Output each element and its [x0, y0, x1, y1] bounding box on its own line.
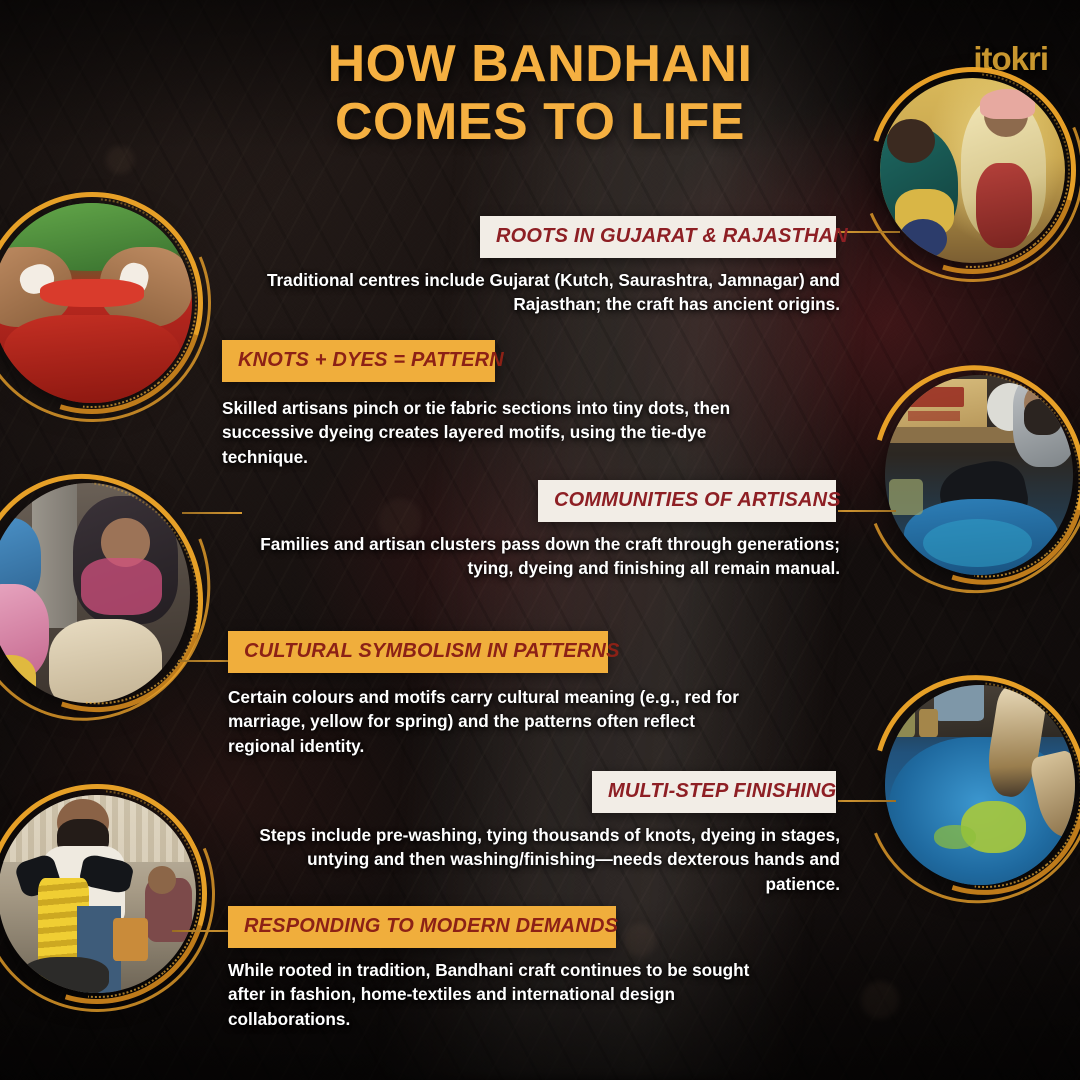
section-heading-multi-step-finishing[interactable]: MULTI-STEP FINISHING	[592, 771, 836, 813]
photo-blue-dye-vat-closeup	[885, 685, 1075, 885]
photo-image	[0, 795, 196, 993]
photo-disc	[880, 78, 1065, 263]
photo-image	[880, 78, 1065, 263]
photo-man-lifting-yellow-fabric	[0, 795, 196, 993]
photo-disc	[0, 795, 196, 993]
photo-image	[885, 685, 1075, 885]
connector-line-2	[182, 512, 242, 514]
section-body-responding-to-modern-demands: While rooted in tradition, Bandhani craf…	[228, 958, 773, 1031]
connector-line-3	[838, 510, 896, 512]
photo-image	[885, 375, 1073, 575]
itokri-logo[interactable]: itokri	[973, 40, 1048, 78]
connector-line-6	[172, 930, 232, 932]
section-body-multi-step-finishing: Steps include pre-washing, tying thousan…	[250, 823, 840, 896]
section-body-communities-of-artisans: Families and artisan clusters pass down …	[250, 532, 840, 581]
photo-disc	[0, 483, 190, 703]
section-heading-knots-dyes-pattern[interactable]: KNOTS + DYES = PATTERN	[222, 340, 495, 382]
section-heading-responding-to-modern-demands[interactable]: RESPONDING TO MODERN DEMANDS	[228, 906, 616, 948]
photo-dyer-blue-vat-gloves	[885, 375, 1073, 575]
section-body-cultural-symbolism-in-patterns: Certain colours and motifs carry cultura…	[228, 685, 758, 758]
photo-disc	[0, 203, 192, 403]
section-heading-cultural-symbolism-in-patterns[interactable]: CULTURAL SYMBOLISM IN PATTERNS	[228, 631, 608, 673]
connector-line-5	[838, 800, 896, 802]
photo-disc	[885, 685, 1075, 885]
section-body-knots-dyes-pattern: Skilled artisans pinch or tie fabric sec…	[222, 396, 752, 469]
photo-hands-tying-red-fabric	[0, 203, 192, 403]
photo-two-women-tying	[880, 78, 1065, 263]
photo-image	[0, 203, 192, 403]
photo-woman-tying-cream-fabric	[0, 483, 190, 703]
section-heading-communities-of-artisans[interactable]: COMMUNITIES OF ARTISANS	[538, 480, 836, 522]
photo-disc	[885, 375, 1073, 575]
photo-image	[0, 483, 190, 703]
section-body-roots-in-gujarat-rajasthan: Traditional centres include Gujarat (Kut…	[250, 268, 840, 317]
section-heading-roots-in-gujarat-rajasthan[interactable]: ROOTS IN GUJARAT & RAJASTHAN	[480, 216, 836, 258]
